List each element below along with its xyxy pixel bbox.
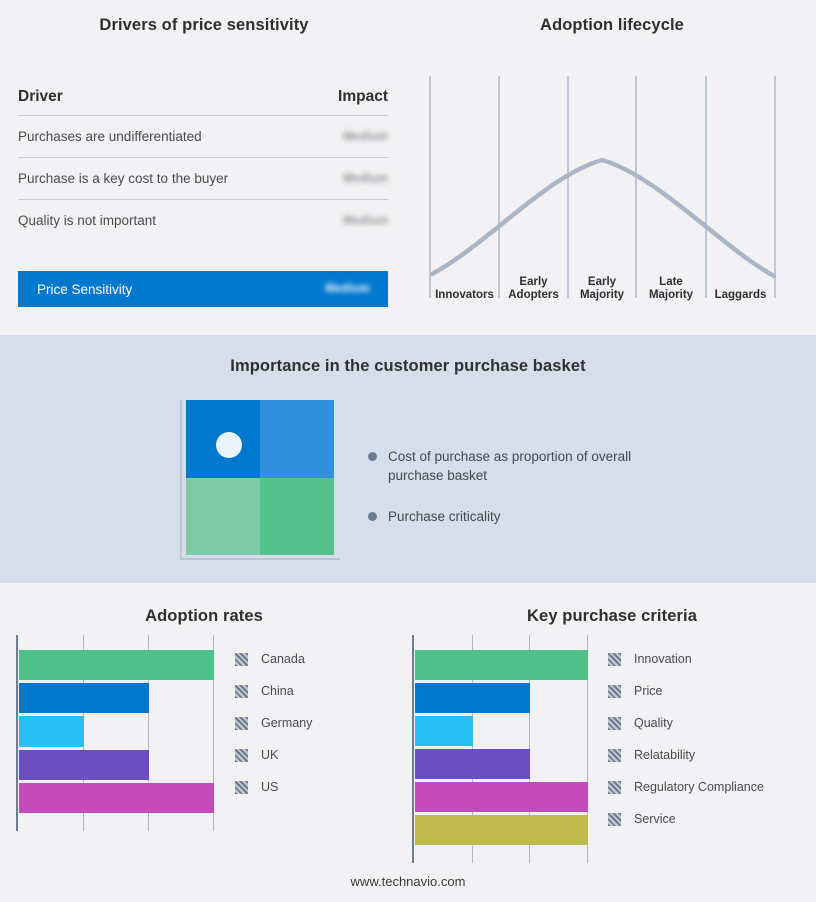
- lifecycle-stage-innovators: Innovators: [430, 289, 499, 302]
- purchase-basket-legend: Cost of purchase as proportion of overal…: [368, 447, 698, 548]
- table-header-row: Driver Impact: [18, 88, 388, 116]
- hatched-swatch-icon: [235, 781, 248, 794]
- footer-url: www.technavio.com: [0, 874, 816, 889]
- drivers-title: Drivers of price sensitivity: [0, 16, 408, 35]
- hatched-swatch-icon: [608, 781, 621, 794]
- purchase-basket-title: Importance in the customer purchase bask…: [0, 357, 816, 376]
- legend-label: Service: [634, 812, 676, 826]
- lifecycle-curve-svg: [428, 76, 798, 306]
- adoption-lifecycle-panel: Adoption lifecycle Innovators Early Adop…: [408, 0, 816, 335]
- hatched-swatch-icon: [235, 653, 248, 666]
- bar-regulatory-compliance: [415, 782, 588, 812]
- hatched-swatch-icon: [235, 749, 248, 762]
- legend-label: Regulatory Compliance: [634, 780, 764, 794]
- quadrant-marker-dot: [216, 432, 242, 458]
- bar-innovation: [415, 650, 588, 680]
- bullet-dot-icon: [368, 512, 377, 521]
- bar-china: [19, 683, 149, 713]
- quadrant-bottom-right: [260, 478, 334, 556]
- bar-us: [19, 783, 214, 813]
- legend-item: Cost of purchase as proportion of overal…: [368, 447, 698, 485]
- quadrant-y-axis: [180, 400, 182, 560]
- bar-germany: [19, 716, 84, 746]
- bar-relatability: [415, 749, 530, 779]
- legend-item[interactable]: Regulatory Compliance: [608, 771, 808, 803]
- column-header-driver: Driver: [18, 88, 63, 106]
- adoption-lifecycle-title: Adoption lifecycle: [408, 16, 816, 35]
- legend-item: Purchase criticality: [368, 507, 698, 526]
- adoption-rates-panel: Adoption rates CanadaChinaGermanyUKUS: [0, 583, 408, 902]
- adoption-rates-title: Adoption rates: [0, 607, 408, 626]
- bar-quality: [415, 716, 473, 746]
- bar-canada: [19, 650, 214, 680]
- adoption-lifecycle-chart: Innovators Early Adopters Early Majority…: [428, 76, 798, 306]
- chart-y-axis: [16, 635, 18, 831]
- impact-value: Medium: [343, 173, 388, 185]
- legend-item[interactable]: Quality: [608, 707, 808, 739]
- legend-label: Relatability: [634, 748, 695, 762]
- lifecycle-stage-early-majority: Early Majority: [568, 276, 636, 302]
- hatched-swatch-icon: [235, 685, 248, 698]
- chart-y-axis: [412, 635, 414, 863]
- purchase-basket-quadrant-chart: [180, 400, 340, 565]
- purchase-basket-panel: Importance in the customer purchase bask…: [0, 335, 816, 583]
- table-row: Purchase is a key cost to the buyer Medi…: [18, 158, 388, 200]
- legend-item[interactable]: US: [235, 771, 400, 803]
- impact-value: Medium: [343, 131, 388, 143]
- table-row: Purchases are undifferentiated Medium: [18, 116, 388, 158]
- hatched-swatch-icon: [608, 685, 621, 698]
- legend-item[interactable]: Relatability: [608, 739, 808, 771]
- hatched-swatch-icon: [608, 653, 621, 666]
- legend-item[interactable]: Service: [608, 803, 808, 835]
- legend-item[interactable]: UK: [235, 739, 400, 771]
- key-purchase-criteria-chart: [412, 635, 598, 863]
- legend-label: Price: [634, 684, 662, 698]
- hatched-swatch-icon: [608, 749, 621, 762]
- quadrant-bottom-left: [186, 478, 260, 556]
- legend-item[interactable]: China: [235, 675, 400, 707]
- quadrant-grid: [186, 400, 334, 555]
- adoption-rates-legend: CanadaChinaGermanyUKUS: [235, 643, 400, 803]
- drivers-panel: Drivers of price sensitivity Driver Impa…: [0, 0, 408, 335]
- legend-label: Quality: [634, 716, 673, 730]
- bar-service: [415, 815, 588, 845]
- highlight-impact-value: Medium: [325, 283, 370, 295]
- price-sensitivity-highlight-row: Price Sensitivity Medium: [18, 271, 388, 307]
- legend-label: UK: [261, 748, 278, 762]
- bar-price: [415, 683, 530, 713]
- bullet-dot-icon: [368, 452, 377, 461]
- lifecycle-stage-laggards: Laggards: [706, 289, 775, 302]
- quadrant-top-right: [260, 400, 334, 478]
- legend-label: Innovation: [634, 652, 692, 666]
- lifecycle-stage-dividers: [430, 76, 775, 298]
- quadrant-x-axis: [180, 558, 340, 560]
- driver-label: Purchase is a key cost to the buyer: [18, 171, 228, 186]
- impact-value: Medium: [343, 215, 388, 227]
- highlight-driver-label: Price Sensitivity: [37, 282, 132, 297]
- drivers-table: Driver Impact Purchases are undifferenti…: [18, 88, 388, 241]
- legend-item[interactable]: Germany: [235, 707, 400, 739]
- lifecycle-stage-early-adopters: Early Adopters: [499, 276, 568, 302]
- legend-label: Germany: [261, 716, 312, 730]
- driver-label: Purchases are undifferentiated: [18, 129, 202, 144]
- hatched-swatch-icon: [608, 813, 621, 826]
- lifecycle-bell-curve: [432, 160, 774, 276]
- lifecycle-stage-late-majority: Late Majority: [636, 276, 706, 302]
- legend-label: Canada: [261, 652, 305, 666]
- key-purchase-criteria-legend: InnovationPriceQualityRelatabilityRegula…: [608, 643, 808, 835]
- adoption-rates-chart: [16, 635, 226, 831]
- legend-item[interactable]: Price: [608, 675, 808, 707]
- key-purchase-criteria-title: Key purchase criteria: [408, 607, 816, 626]
- column-header-impact: Impact: [338, 88, 388, 106]
- table-row: Quality is not important Medium: [18, 200, 388, 241]
- bar-uk: [19, 750, 149, 780]
- key-purchase-criteria-panel: Key purchase criteria InnovationPriceQua…: [408, 583, 816, 902]
- hatched-swatch-icon: [235, 717, 248, 730]
- legend-label: US: [261, 780, 278, 794]
- legend-item[interactable]: Innovation: [608, 643, 808, 675]
- driver-label: Quality is not important: [18, 213, 156, 228]
- legend-item[interactable]: Canada: [235, 643, 400, 675]
- legend-label: Purchase criticality: [388, 507, 501, 526]
- legend-label: China: [261, 684, 294, 698]
- quadrant-top-left: [186, 400, 260, 478]
- hatched-swatch-icon: [608, 717, 621, 730]
- legend-label: Cost of purchase as proportion of overal…: [388, 447, 654, 485]
